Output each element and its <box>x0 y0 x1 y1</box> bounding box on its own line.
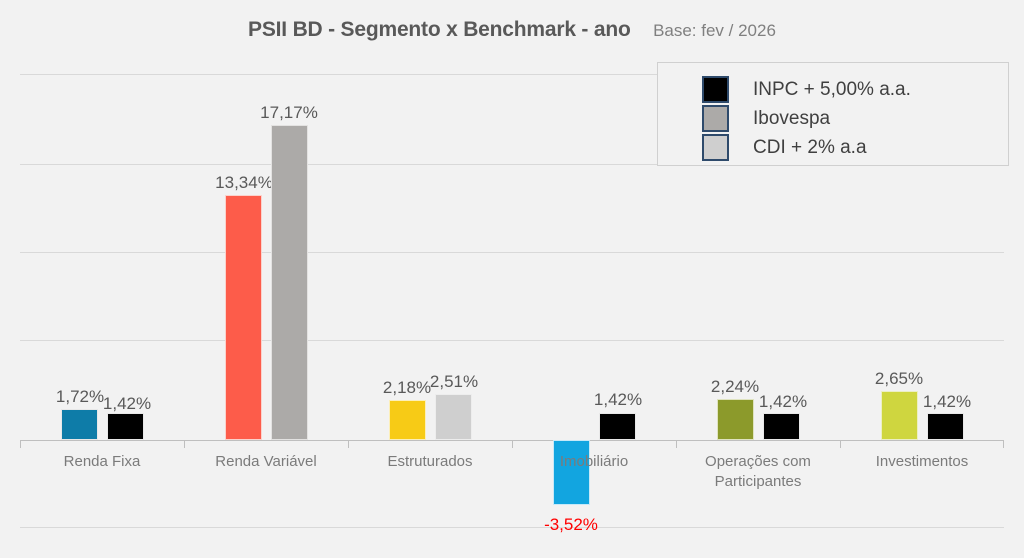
legend-item-inpc[interactable]: INPC + 5,00% a.a. <box>702 75 911 104</box>
bar-value-label: 2,51% <box>404 372 504 392</box>
category-label: Imobiliário <box>512 452 676 472</box>
bar-benchmark[interactable] <box>271 125 308 440</box>
bar-value-label: 17,17% <box>237 103 341 123</box>
bar-value-label: 2,65% <box>849 369 949 389</box>
bar-group-renda-variavel: 13,34% 17,17% Renda Variável <box>184 60 348 540</box>
legend-item-label: CDI + 2% a.a <box>753 137 867 159</box>
page-title: PSII BD - Segmento x Benchmark - ano <box>248 18 631 41</box>
bar-group-renda-fixa: 1,72% 1,42% Renda Fixa <box>20 60 184 540</box>
bar-segmento[interactable] <box>553 440 590 505</box>
bar-benchmark[interactable] <box>763 413 800 440</box>
legend-swatch-icon <box>702 76 729 103</box>
category-label: Investimentos <box>840 452 1004 472</box>
legend-item-ibovespa[interactable]: Ibovespa <box>702 104 830 133</box>
category-label: Operações com Participantes <box>676 452 840 492</box>
bar-benchmark[interactable] <box>599 413 636 440</box>
legend-swatch-icon <box>702 105 729 132</box>
bar-value-label: 1,42% <box>733 392 833 412</box>
chart-header: PSII BD - Segmento x Benchmark - ano Bas… <box>0 18 1024 42</box>
bar-value-label: 1,42% <box>568 390 668 410</box>
legend-item-label: Ibovespa <box>753 108 830 130</box>
bar-group-estruturados: 2,18% 2,51% Estruturados <box>348 60 512 540</box>
chart-legend: INPC + 5,00% a.a. Ibovespa CDI + 2% a.a <box>657 62 1009 166</box>
category-label: Estruturados <box>348 452 512 472</box>
category-label: Renda Fixa <box>20 452 184 472</box>
category-label: Renda Variável <box>184 452 348 472</box>
bar-benchmark[interactable] <box>107 413 144 440</box>
bar-benchmark[interactable] <box>927 413 964 440</box>
legend-item-label: INPC + 5,00% a.a. <box>753 79 911 101</box>
legend-swatch-icon <box>702 134 729 161</box>
bar-group-imobiliario: -3,52% 1,42% Imobiliário <box>512 60 676 540</box>
bar-segmento[interactable] <box>389 400 426 440</box>
legend-item-cdi[interactable]: CDI + 2% a.a <box>702 133 867 162</box>
chart-subtitle: Base: fev / 2026 <box>653 21 776 40</box>
bar-benchmark[interactable] <box>435 394 472 440</box>
bar-value-label: 1,42% <box>81 394 173 414</box>
bar-value-label: 1,42% <box>897 392 997 412</box>
category-label-text: Operações com Participantes <box>705 453 811 490</box>
bar-value-label: -3,52% <box>521 515 621 535</box>
bar-segmento[interactable] <box>225 195 262 440</box>
